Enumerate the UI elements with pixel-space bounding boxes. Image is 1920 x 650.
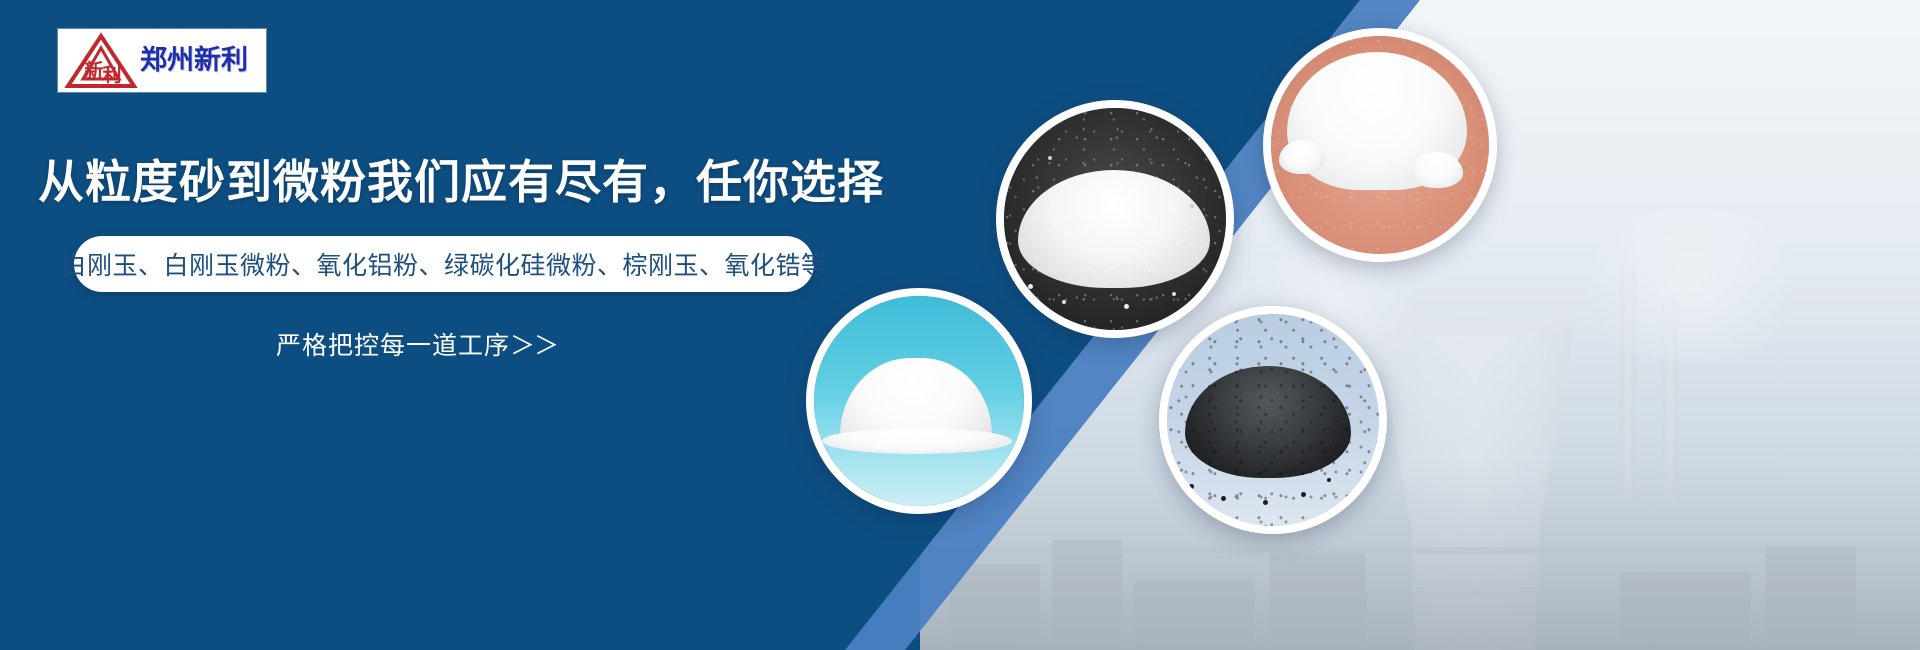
grain-speck [1172,292,1176,296]
xinli-triangle-icon: 新 利 [64,31,138,91]
product-list-text: 白刚玉、白刚玉微粉、氧化铝粉、绿碳化硅微粉、棕刚玉、氧化锆等 [62,246,827,282]
grain-speck [1301,492,1306,497]
grain-speck [1263,500,1268,505]
product-photo-white-corundum-micropowder [806,288,1032,514]
product-photo-brown-fused-alumina [1159,306,1387,534]
grain-texture [1004,108,1226,330]
logo-company-name: 郑州新利 [140,47,248,74]
grain-speck [1124,304,1129,309]
grain-speck [1028,284,1033,289]
product-photo-alumina-powder [1263,28,1497,262]
grain-speck [1221,496,1226,501]
promo-banner: 新 利 郑州新利 从粒度砂到微粉我们应有尽有，任你选择 白刚玉、白刚玉微粉、氧化… [0,0,1920,650]
company-logo[interactable]: 新 利 郑州新利 [58,29,266,92]
grain-speck [1327,478,1331,482]
powder-base [822,428,1012,454]
grain-speck [1062,300,1066,304]
svg-text:利: 利 [102,64,121,86]
grain-speck [1190,204,1194,208]
grain-texture [1167,314,1379,526]
chevron-right-icon: ＞＞ [510,331,558,360]
grain-speck [1048,156,1052,160]
page-title: 从粒度砂到微粉我们应有尽有，任你选择 [38,146,884,212]
product-list-pill: 白刚玉、白刚玉微粉、氧化铝粉、绿碳化硅微粉、棕刚玉、氧化锆等 [74,236,814,292]
svg-text:新: 新 [84,59,103,82]
tagline-text: 严格把控每一道工序 [276,331,510,360]
grain-texture [1271,36,1489,254]
product-photo-white-fused-alumina [996,100,1234,338]
tagline[interactable]: 严格把控每一道工序＞＞ [276,326,558,362]
grain-speck [1189,484,1194,489]
